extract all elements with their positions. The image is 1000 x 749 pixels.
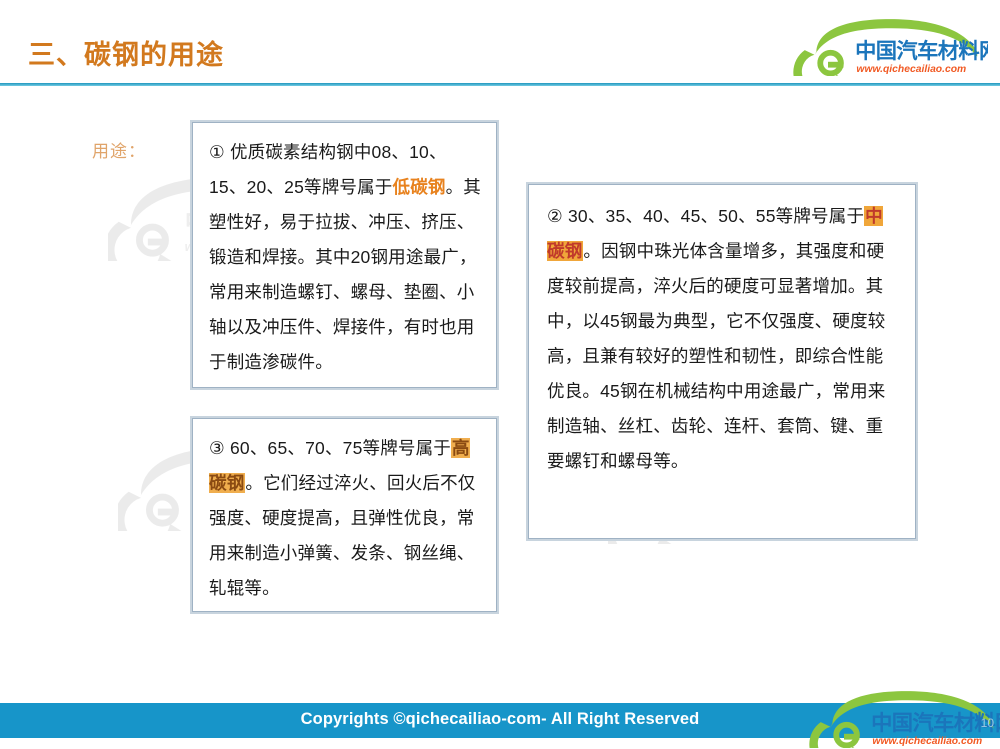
logo-brand-url: www.qichecailiao.com — [872, 736, 982, 747]
info-box-low-carbon: ① 优质碳素结构钢中08、10、15、20、25等牌号属于低碳钢。其塑性好，易于… — [192, 122, 497, 388]
info-box-high-carbon: ③ 60、65、70、75等牌号属于高碳钢。它们经过淬火、回火后不仅强度、硬度提… — [192, 418, 497, 612]
info-box-text: ① 优质碳素结构钢中08、10、15、20、25等牌号属于低碳钢。其塑性好，易于… — [209, 135, 482, 380]
page-title: 三、碳钢的用途 — [28, 33, 224, 72]
info-box-text: ② 30、35、40、45、50、55等牌号属于中碳钢。因钢中珠光体含量增多，其… — [547, 199, 899, 479]
info-box-text: ③ 60、65、70、75等牌号属于高碳钢。它们经过淬火、回火后不仅强度、硬度提… — [209, 431, 482, 606]
usage-label: 用途： — [92, 137, 146, 162]
site-logo-footer: 中国汽车材料网 www.qichecailiao.com — [808, 686, 1000, 748]
logo-brand-url: www.qichecailiao.com — [856, 64, 966, 75]
site-logo: 中国汽车材料网 www.qichecailiao.com — [792, 14, 988, 76]
info-box-medium-carbon: ② 30、35、40、45、50、55等牌号属于中碳钢。因钢中珠光体含量增多，其… — [528, 184, 916, 539]
page-number: 10 — [981, 716, 994, 730]
slide-canvas: 中国汽车材料网 www.qichecailiao.com 中国汽车材料网 www… — [0, 0, 1000, 749]
header-divider — [0, 83, 1000, 86]
logo-brand-cn: 中国汽车材料网 — [855, 38, 988, 63]
